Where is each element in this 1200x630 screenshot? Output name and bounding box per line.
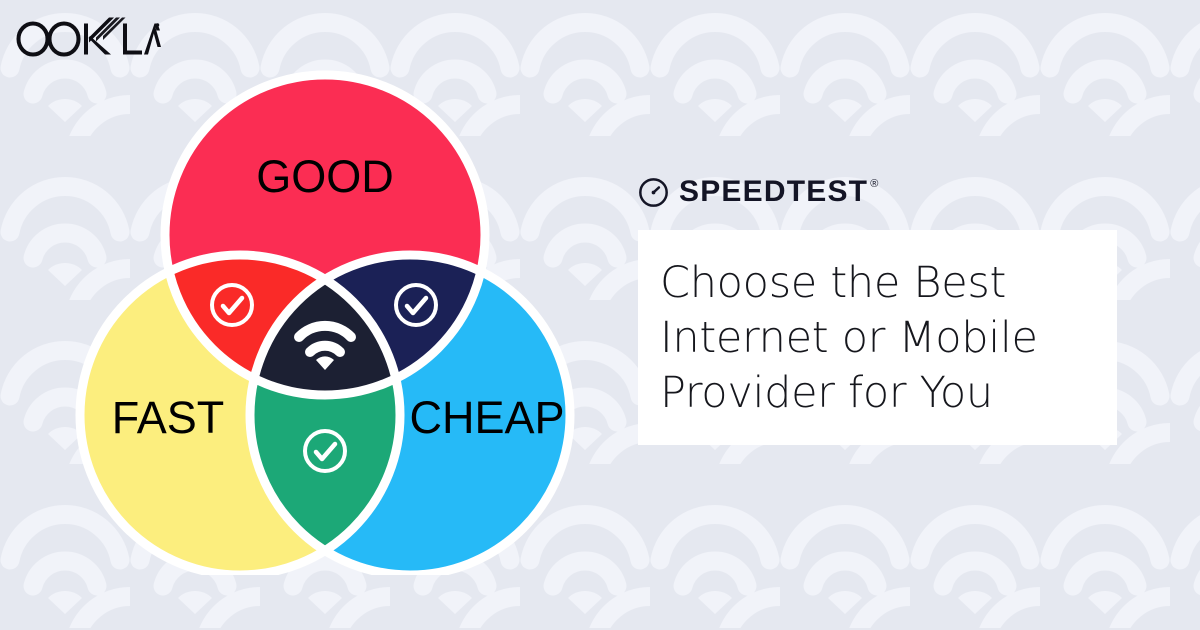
right-content-column: SPEEDTEST ® Choose the Best Internet or … [638, 175, 1138, 231]
venn-label-fast: FAST [112, 392, 225, 443]
speedtest-logo: SPEEDTEST ® [638, 175, 1138, 209]
venn-diagram: GOOD FAST CHEAP [40, 55, 620, 575]
venn-label-good: GOOD [256, 151, 394, 202]
page-title: Choose the Best Internet or Mobile Provi… [660, 256, 1117, 421]
headline-line-1: Choose the Best [660, 256, 1117, 311]
speedtest-registered-mark: ® [870, 179, 879, 190]
headline-line-2: Internet or Mobile [660, 311, 1117, 366]
speedtest-wordmark-text: SPEEDTEST [679, 177, 868, 207]
speed-gauge-icon [638, 177, 669, 208]
poster-canvas: GOOD FAST CHEAP [0, 0, 1200, 630]
speedtest-wordmark-group: SPEEDTEST ® [679, 177, 880, 207]
headline-card: Choose the Best Internet or Mobile Provi… [638, 230, 1117, 445]
venn-label-cheap: CHEAP [409, 392, 564, 443]
headline-line-3: Provider for You [660, 366, 1117, 421]
